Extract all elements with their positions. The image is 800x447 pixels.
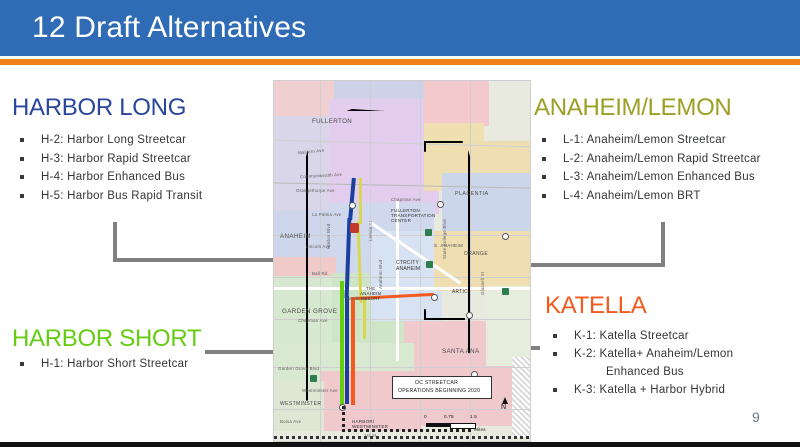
- map-region-se: [486, 286, 530, 366]
- bullet-icon: [553, 352, 557, 356]
- list-item-label: K-3: Katella + Harbor Hybrid: [574, 384, 725, 396]
- poi-icon: [502, 288, 509, 295]
- north-arrow-label: N: [501, 404, 506, 411]
- bullet-icon: [542, 157, 546, 161]
- station-marker: [502, 233, 509, 240]
- map-street-label: Chapman Ave: [391, 197, 421, 202]
- station-marker: [431, 294, 438, 301]
- map-region-hatch-right: [512, 357, 530, 437]
- bullet-icon: [553, 334, 557, 338]
- list-item: H-5: Harbor Bus Rapid Transit: [12, 187, 202, 206]
- route-anaheim-lemon: [363, 299, 366, 339]
- bullet-icon: [20, 175, 24, 179]
- station-marker: [437, 201, 444, 208]
- station-marker: [466, 312, 473, 319]
- list-item: L-4: Anaheim/Lemon BRT: [534, 187, 761, 206]
- map-bottom-dashes: [274, 436, 530, 439]
- list-item-label: H-1: Harbor Short Streetcar: [41, 358, 188, 370]
- list-item: L-1: Anaheim/Lemon Streetcar: [534, 131, 761, 150]
- connector-anaheim-lemon-horizontal: [528, 263, 665, 267]
- list-item-label: H-2: Harbor Long Streetcar: [41, 134, 186, 146]
- map-street-label-vertical: Glassell St: [480, 272, 485, 295]
- list-item: H-2: Harbor Long Streetcar: [12, 131, 202, 150]
- list-anaheim-lemon: L-1: Anaheim/Lemon Streetcar L-2: Anahei…: [534, 131, 761, 205]
- scale-tick-label: 1.5: [470, 414, 477, 419]
- map-street-label-vertical: Harbor Blvd: [326, 224, 331, 249]
- station-marker: [349, 202, 356, 209]
- section-heading-katella: KATELLA: [545, 292, 647, 320]
- map-city-label: PLACENTIA: [455, 191, 489, 197]
- list-harbor-short: H-1: Harbor Short Streetcar: [12, 355, 188, 374]
- map-place-label-harbor-westminster: HARBOR/WESTMINSTER: [352, 419, 388, 429]
- map-street-label: Bolsa Ave: [280, 419, 301, 424]
- page-title: 12 Draft Alternatives: [32, 11, 306, 45]
- poi-icon: [426, 261, 433, 268]
- map-street-label: Ball Rd: [312, 271, 328, 276]
- bullet-icon: [542, 194, 546, 198]
- list-item: L-2: Anaheim/Lemon Rapid Streetcar: [534, 150, 761, 169]
- list-item-label: L-4: Anaheim/Lemon BRT: [563, 190, 701, 202]
- map-city-label: ANAHEIM: [280, 233, 311, 240]
- list-harbor-long: H-2: Harbor Long Streetcar H-3: Harbor R…: [12, 131, 202, 205]
- map-region-ne: [424, 81, 489, 126]
- list-item-label: H-5: Harbor Bus Rapid Transit: [41, 190, 202, 202]
- bullet-icon: [20, 362, 24, 366]
- map-city-label: GARDEN GROVE: [282, 308, 337, 315]
- map-place-label-ctrcity: CTRCITYANAHEIM: [396, 261, 420, 273]
- map-city-label: WESTMINSTER: [280, 401, 321, 407]
- route-harbor-long: [345, 296, 349, 404]
- map-callout-line-1: OC STREETCAR: [415, 380, 458, 386]
- list-katella: K-1: Katella Streetcar K-2: Katella+ Ana…: [545, 327, 733, 399]
- list-item-label: H-4: Harbor Enhanced Bus: [41, 171, 185, 183]
- map-place-label-artic: ARTIC: [452, 289, 468, 295]
- bottom-strip: [0, 442, 800, 447]
- list-item: L-3: Anaheim/Lemon Enhanced Bus: [534, 168, 761, 187]
- route-harbor-short: [340, 281, 344, 406]
- map-city-label: SANTA ANA: [442, 348, 480, 355]
- poi-icon: [425, 229, 432, 236]
- shield-icon-i5: [350, 223, 359, 233]
- corridor-map[interactable]: OC STREETCAR OPERATIONS BEGINNING 2020 F…: [273, 80, 531, 442]
- map-street-label: Chapman Ave: [298, 318, 328, 323]
- map-callout-line-2: OPERATIONS BEGINNING 2020: [398, 388, 480, 394]
- map-street-label: La Palma Ave: [312, 212, 341, 217]
- map-street-label: Westminster Ave: [302, 388, 338, 393]
- scale-units-label: Miles: [474, 427, 486, 432]
- map-place-label-ftc: FULLERTONTRANSPORTATIONCENTER: [391, 208, 439, 224]
- list-item: K-1: Katella Streetcar: [545, 327, 733, 345]
- list-item: H-4: Harbor Enhanced Bus: [12, 168, 202, 187]
- section-heading-harbor-short: HARBOR SHORT: [12, 325, 201, 353]
- bullet-icon: [553, 388, 557, 392]
- map-street-label-vertical: State College Blvd: [442, 219, 447, 259]
- map-city-label: FULLERTON: [312, 118, 352, 125]
- list-item-label: Enhanced Bus: [606, 366, 684, 378]
- list-item: K-2: Katella+ Anaheim/Lemon: [545, 345, 733, 363]
- connector-harbor-long-vertical: [113, 222, 117, 262]
- map-street-label: Katella Ave: [346, 296, 370, 301]
- map-street-label: Orangethorpe Ave: [296, 188, 335, 193]
- list-item-label: K-2: Katella+ Anaheim/Lemon: [574, 348, 733, 360]
- poi-icon: [310, 375, 317, 382]
- list-item-label: L-3: Anaheim/Lemon Enhanced Bus: [563, 171, 755, 183]
- north-arrow-icon: [502, 397, 508, 404]
- map-street-label: Garden Grove Blvd: [278, 366, 319, 371]
- map-city-label: ORANGE: [464, 251, 488, 257]
- list-item-label: L-1: Anaheim/Lemon Streetcar: [563, 134, 726, 146]
- section-heading-anaheim-lemon: ANAHEIM/LEMON: [534, 94, 731, 122]
- map-city-label: S. ANAHEIM: [434, 243, 463, 248]
- bullet-icon: [20, 138, 24, 142]
- map-street-label-vertical: Anaheim Blvd: [378, 260, 383, 290]
- scale-tick-label: 0: [424, 414, 427, 419]
- route-anaheim-lemon: [359, 178, 362, 224]
- scale-tick-label: 0.75: [444, 414, 454, 419]
- bullet-icon: [20, 194, 24, 198]
- accent-rule: [0, 59, 800, 65]
- route-oc-streetcar-dotted: [342, 406, 345, 430]
- list-item-label: L-2: Anaheim/Lemon Rapid Streetcar: [563, 153, 761, 165]
- scale-bar-dark: [426, 423, 450, 427]
- list-item: H-3: Harbor Rapid Streetcar: [12, 150, 202, 169]
- list-item-label: H-3: Harbor Rapid Streetcar: [41, 153, 191, 165]
- bullet-icon: [20, 157, 24, 161]
- list-item: H-1: Harbor Short Streetcar: [12, 355, 188, 374]
- list-item: K-3: Katella + Harbor Hybrid: [545, 381, 733, 399]
- connector-harbor-long-horizontal: [113, 258, 276, 262]
- scale-bar-light: [450, 423, 476, 429]
- list-item-label: K-1: Katella Streetcar: [574, 330, 689, 342]
- connector-anaheim-lemon-vertical: [661, 222, 665, 267]
- bullet-icon: [542, 175, 546, 179]
- bullet-icon: [542, 138, 546, 142]
- page-number: 9: [752, 409, 760, 425]
- map-street-label-vertical: Lemon St: [368, 221, 373, 241]
- slide: 12 Draft Alternatives HARBOR LONG H-2: H…: [0, 0, 800, 447]
- section-heading-harbor-long: HARBOR LONG: [12, 94, 186, 122]
- list-item-continuation: Enhanced Bus: [545, 363, 733, 381]
- route-katella: [351, 297, 355, 405]
